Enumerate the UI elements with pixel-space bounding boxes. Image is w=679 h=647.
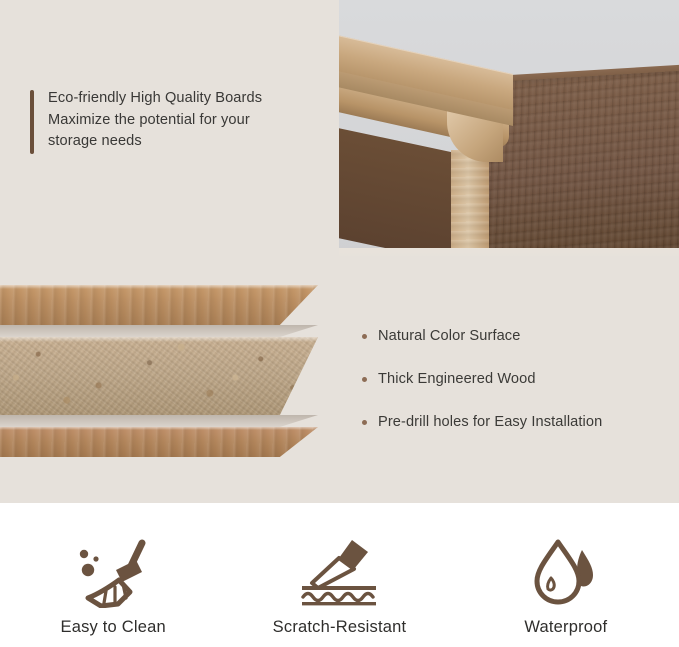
board-gap-shadow-upper [0, 325, 318, 337]
feature-label: Scratch-Resistant [273, 618, 407, 637]
board-gap-shadow-lower [0, 415, 318, 427]
particleboard-core [0, 337, 318, 415]
headline-block: Eco-friendly High Quality Boards Maximiz… [30, 88, 320, 154]
top-veneer-panel [0, 285, 318, 325]
bullet-dot-icon [362, 377, 367, 382]
bullet-label: Thick Engineered Wood [378, 370, 536, 389]
feature-icon-bar: Easy to Clean Scratch-Resistant [0, 503, 679, 647]
feature-label: Easy to Clean [61, 618, 166, 637]
headline-line-2: Maximize the potential for your [48, 110, 262, 132]
list-item: Pre-drill holes for Easy Installation [362, 413, 662, 432]
bullet-dot-icon [362, 334, 367, 339]
bullet-label: Pre-drill holes for Easy Installation [378, 413, 602, 432]
product-infographic: Eco-friendly High Quality Boards Maximiz… [0, 0, 679, 647]
feature-label: Waterproof [524, 618, 607, 637]
bullet-label: Natural Color Surface [378, 327, 520, 346]
accent-bar [30, 90, 34, 154]
bottom-veneer-panel [0, 427, 318, 457]
blade-on-board-icon [296, 536, 382, 608]
board-cross-section-image [0, 285, 318, 465]
broom-icon [74, 536, 152, 608]
feature-waterproof: Waterproof [453, 503, 679, 647]
furniture-corner-photo [339, 0, 679, 258]
list-item: Thick Engineered Wood [362, 370, 662, 389]
headline-line-1: Eco-friendly High Quality Boards [48, 88, 262, 110]
photo-floor-strip [339, 248, 679, 258]
feature-easy-to-clean: Easy to Clean [0, 503, 226, 647]
cabinet-corner-post [451, 150, 489, 258]
headline-text: Eco-friendly High Quality Boards Maximiz… [48, 88, 262, 153]
feature-scratch-resistant: Scratch-Resistant [226, 503, 452, 647]
water-droplet-icon [527, 536, 605, 608]
bullet-dot-icon [362, 420, 367, 425]
list-item: Natural Color Surface [362, 327, 662, 346]
feature-bullet-list: Natural Color Surface Thick Engineered W… [362, 327, 662, 456]
headline-line-3: storage needs [48, 131, 262, 153]
